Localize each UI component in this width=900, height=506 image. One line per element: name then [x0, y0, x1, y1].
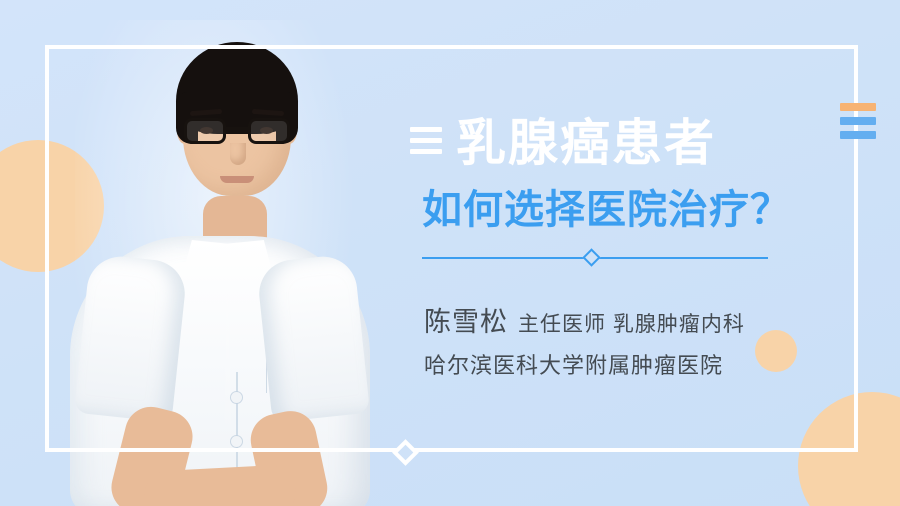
bar-blue-2: [840, 131, 876, 139]
title-row: 乳腺癌患者: [410, 118, 716, 168]
triple-bar-decoration: [840, 103, 876, 145]
section-divider: [422, 257, 768, 259]
page-subtitle: 如何选择医院治疗？: [422, 190, 791, 230]
bar-blue-1: [840, 117, 876, 125]
hamburger-line-3: [410, 149, 442, 154]
doctor-hospital: 哈尔滨医科大学附属肿瘤医院: [424, 348, 723, 380]
crossed-forearms: [143, 464, 298, 506]
doctor-name: 陈雪松: [424, 307, 508, 337]
decorative-frame-border: [45, 45, 858, 452]
hamburger-lines-icon: [410, 127, 442, 160]
doctor-credentials-line: 陈雪松主任医师 乳腺肿瘤内科: [424, 300, 745, 339]
doctor-role: 主任医师 乳腺肿瘤内科: [518, 313, 745, 336]
hamburger-line-2: [410, 138, 442, 143]
bar-orange: [840, 103, 876, 111]
hamburger-line-1: [410, 127, 442, 132]
video-thumbnail-card: 乳腺癌患者 如何选择医院治疗？ 陈雪松主任医师 乳腺肿瘤内科 哈尔滨医科大学附属…: [0, 0, 900, 506]
page-title: 乳腺癌患者: [456, 118, 716, 168]
